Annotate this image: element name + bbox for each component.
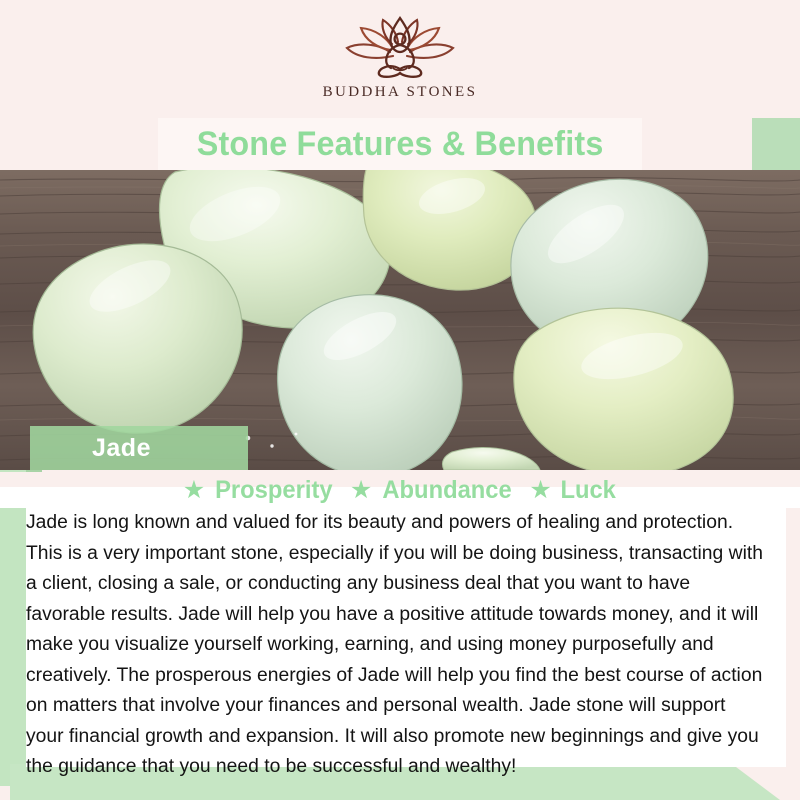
stone-name-label: Jade	[92, 434, 151, 463]
star-icon: ★	[529, 478, 551, 503]
star-icon: ★	[183, 478, 205, 503]
page-title: Stone Features & Benefits	[197, 125, 604, 164]
description-panel: Jade is long known and valued for its be…	[26, 505, 786, 767]
stone-photo-illustration	[0, 170, 800, 470]
brand-header: BUDDHA STONES	[0, 0, 800, 118]
keyword-item-abundance: ★ Abundance	[350, 476, 516, 505]
decorative-strip-left-text	[0, 466, 26, 786]
keyword-label: Prosperity	[215, 476, 332, 505]
lotus-meditation-icon	[331, 16, 469, 78]
title-banner: Stone Features & Benefits	[158, 118, 642, 170]
keyword-list: ★ Prosperity ★ Abundance ★ Luck	[0, 472, 800, 508]
star-icon: ★	[350, 478, 372, 503]
stone-name-bar: Jade	[30, 426, 248, 470]
keyword-item-prosperity: ★ Prosperity	[183, 476, 336, 505]
stone-photo	[0, 170, 800, 470]
keyword-label: Abundance	[383, 476, 512, 505]
keyword-label: Luck	[560, 476, 615, 505]
brand-wordmark: BUDDHA STONES	[323, 84, 478, 101]
stone-info-card: BUDDHA STONES Stone Features & Benefits	[0, 0, 800, 800]
keyword-item-luck: ★ Luck	[529, 476, 617, 505]
description-text: Jade is long known and valued for its be…	[26, 507, 767, 782]
